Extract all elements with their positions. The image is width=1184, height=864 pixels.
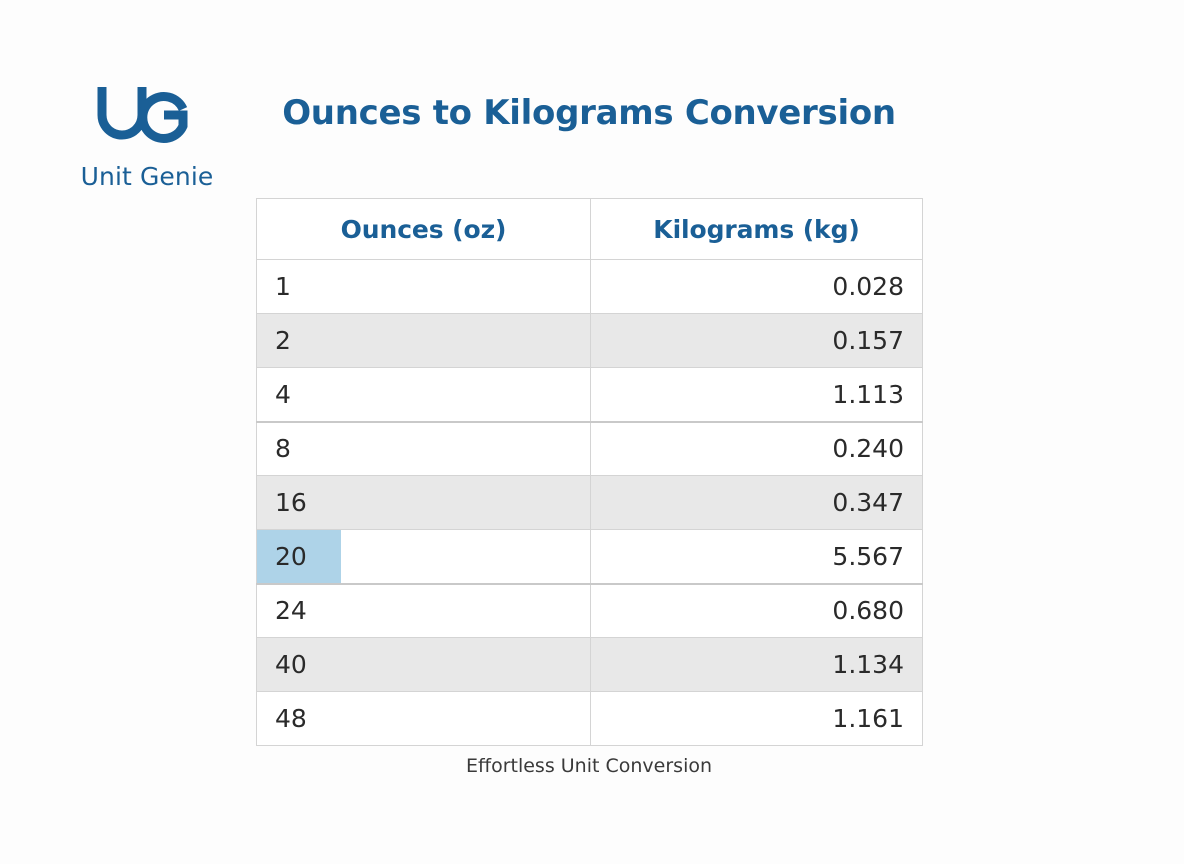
column-header-ounces: Ounces (oz) [257,199,591,260]
cell-value: 0.240 [832,434,904,463]
cell-value: 1.161 [832,704,904,733]
conversion-table: Ounces (oz) Kilograms (kg) 10.02820.1574… [256,198,923,746]
cell-kilograms[interactable]: 1.161 [591,692,923,746]
page-title: Ounces to Kilograms Conversion [256,92,922,135]
cell-kilograms[interactable]: 0.157 [591,314,923,368]
cell-ounces[interactable]: 16 [257,476,591,530]
cell-kilograms[interactable]: 0.240 [591,422,923,476]
cell-value: 20 [275,542,307,571]
brand-block: Unit Genie [47,82,247,189]
table-row: 41.113 [257,368,923,422]
cell-value: 1 [275,272,291,301]
table-row: 20.157 [257,314,923,368]
table-row: 401.134 [257,638,923,692]
cell-value: 0.028 [832,272,904,301]
table-row: 80.240 [257,422,923,476]
column-header-kilograms: Kilograms (kg) [591,199,923,260]
cell-value: 5.567 [832,542,904,571]
cell-kilograms[interactable]: 5.567 [591,530,923,584]
cell-ounces[interactable]: 40 [257,638,591,692]
cell-value: 0.157 [832,326,904,355]
cell-value: 0.680 [832,596,904,625]
conversion-table-wrap: Ounces (oz) Kilograms (kg) 10.02820.1574… [256,198,922,746]
cell-ounces[interactable]: 2 [257,314,591,368]
table-header-row: Ounces (oz) Kilograms (kg) [257,199,923,260]
cell-ounces[interactable]: 24 [257,584,591,638]
cell-kilograms[interactable]: 0.347 [591,476,923,530]
cell-value: 1.134 [832,650,904,679]
cell-kilograms[interactable]: 1.134 [591,638,923,692]
footer-note: Effortless Unit Conversion [256,755,922,777]
cell-value: 1.113 [832,380,904,409]
cell-value: 48 [275,704,307,733]
cell-ounces[interactable]: 4 [257,368,591,422]
cell-value: 24 [275,596,307,625]
table-row: 10.028 [257,260,923,314]
cell-kilograms[interactable]: 0.680 [591,584,923,638]
ug-monogram-logo-icon [92,82,202,144]
table-row: 160.347 [257,476,923,530]
table-body: 10.02820.15741.11380.240160.347205.56724… [257,260,923,746]
cell-ounces[interactable]: 8 [257,422,591,476]
brand-name: Unit Genie [47,164,247,189]
cell-ounces[interactable]: 20 [257,530,591,584]
cell-ounces[interactable]: 48 [257,692,591,746]
cell-value: 8 [275,434,291,463]
cell-kilograms[interactable]: 1.113 [591,368,923,422]
cell-value: 40 [275,650,307,679]
table-row: 205.567 [257,530,923,584]
table-row: 240.680 [257,584,923,638]
cell-kilograms[interactable]: 0.028 [591,260,923,314]
cell-value: 4 [275,380,291,409]
cell-value: 2 [275,326,291,355]
cell-value: 0.347 [832,488,904,517]
cell-value: 16 [275,488,307,517]
table-row: 481.161 [257,692,923,746]
cell-ounces[interactable]: 1 [257,260,591,314]
